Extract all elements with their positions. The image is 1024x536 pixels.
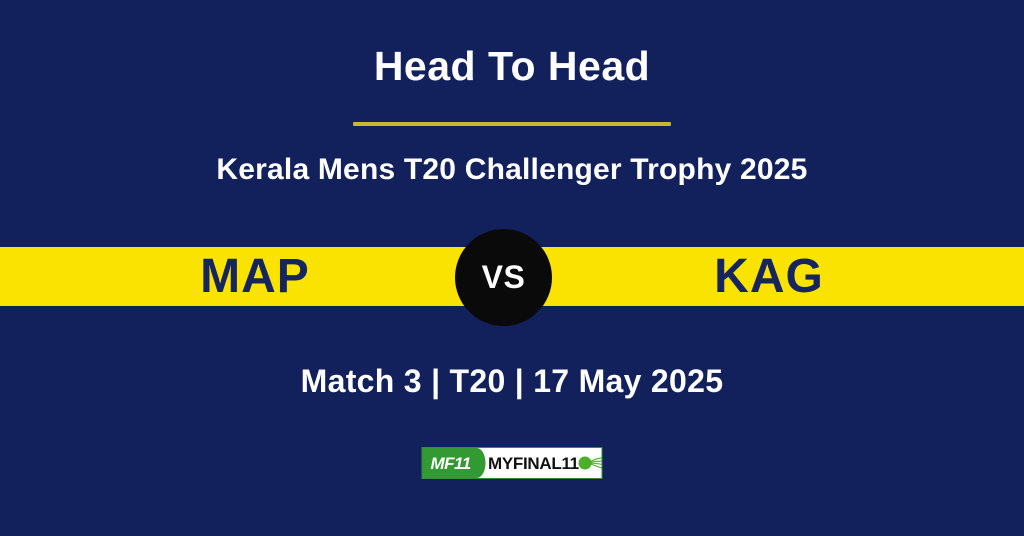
brand-wordmark-label: MYFINAL11 [488,455,579,472]
cricket-ball-trail [588,457,603,470]
title-divider [353,122,671,126]
page-title: Head To Head [0,46,1024,87]
match-details: Match 3 | T20 | 17 May 2025 [0,365,1024,397]
brand-mark-label: MF11 [431,455,471,472]
brand-logo: MF11 MYFINAL11 [422,447,603,479]
brand-mark: MF11 [423,448,475,478]
poster-header: Head To Head Kerala Mens T20 Challenger … [0,0,1024,247]
tournament-name: Kerala Mens T20 Challenger Trophy 2025 [0,155,1024,185]
cricket-ball-icon [579,448,598,478]
versus-badge: VS [455,229,552,326]
brand-wordmark: MYFINAL11 [474,448,579,478]
head-to-head-poster: Head To Head Kerala Mens T20 Challenger … [0,0,1024,536]
away-team-code: KAG [594,247,944,306]
home-team-code: MAP [80,247,430,306]
